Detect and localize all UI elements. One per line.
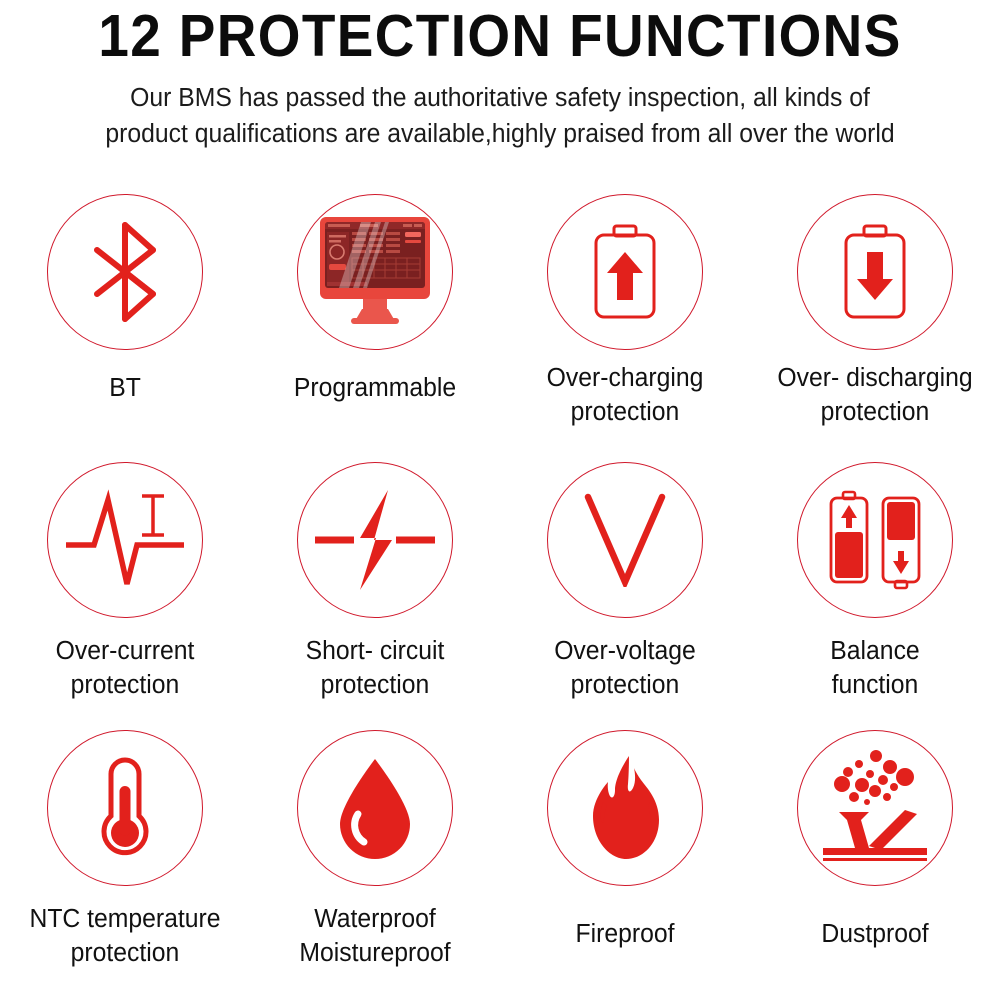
feature-label-line-1: Over-charging (504, 362, 747, 396)
feature-label-line-1: Balance (754, 635, 997, 669)
current-waveform-icon (64, 488, 186, 592)
feature-label-line-1: Over-current (4, 635, 247, 669)
icon-circle (297, 194, 453, 350)
battery-up-arrow-icon (586, 222, 664, 322)
page-title: 12 PROTECTION FUNCTIONS (35, 6, 965, 68)
lightning-bolt-icon (312, 488, 438, 592)
feature-item-short-circuit: Short- circuit protection (250, 454, 500, 722)
feature-item-bt: BT (0, 186, 250, 454)
feature-label: Dustproof (754, 918, 997, 952)
feature-label-line-2: protection (504, 669, 747, 703)
icon-circle (47, 730, 203, 886)
feature-label: Waterproof Moistureproof (254, 903, 497, 970)
feature-label: Programmable (254, 372, 497, 406)
feature-label: Over-charging protection (504, 362, 747, 429)
feature-label-line-1: BT (4, 372, 247, 406)
feature-label-line-2: protection (254, 669, 497, 703)
dust-particles-icon (817, 750, 933, 866)
feature-item-programmable: Programmable (250, 186, 500, 454)
feature-item-over-charging: Over-charging protection (500, 186, 750, 454)
feature-item-balance: Balance function (750, 454, 1000, 722)
feature-label-line-2: protection (504, 396, 747, 430)
feature-label-line-2: Moistureproof (254, 937, 497, 971)
voltage-v-icon (580, 493, 670, 587)
icon-circle (47, 194, 203, 350)
feature-label: Over-voltage protection (504, 635, 747, 702)
subtitle-line-2: product qualifications are available,hig… (15, 116, 985, 152)
protection-functions-infographic: 12 PROTECTION FUNCTIONS Our BMS has pass… (0, 0, 1000, 1000)
feature-item-over-discharging: Over- discharging protection (750, 186, 1000, 454)
feature-label-line-1: Waterproof (254, 903, 497, 937)
feature-item-ntc-temperature: NTC temperature protection (0, 722, 250, 1000)
icon-circle (547, 730, 703, 886)
feature-label-line-1: NTC temperature (4, 903, 247, 937)
monitor-icon (315, 214, 435, 330)
page-subtitle: Our BMS has passed the authoritative saf… (15, 80, 985, 152)
feature-label-line-1: Programmable (254, 372, 497, 406)
feature-label-line-2: protection (754, 396, 997, 430)
icon-circle (797, 730, 953, 886)
icon-circle (547, 462, 703, 618)
feature-grid: BT (0, 186, 1000, 1000)
icon-circle (547, 194, 703, 350)
icon-circle (297, 730, 453, 886)
feature-label: Fireproof (504, 918, 747, 952)
feature-label: BT (4, 372, 247, 406)
feature-label-line-2: function (754, 669, 997, 703)
thermometer-icon (88, 756, 162, 860)
battery-down-arrow-icon (836, 222, 914, 322)
icon-circle (797, 194, 953, 350)
feature-item-fireproof: Fireproof (500, 722, 750, 1000)
feature-label-line-1: Short- circuit (254, 635, 497, 669)
feature-item-dustproof: Dustproof (750, 722, 1000, 1000)
feature-label: Balance function (754, 635, 997, 702)
water-drop-icon (332, 756, 418, 860)
bluetooth-icon (75, 217, 175, 327)
two-batteries-icon (823, 488, 927, 592)
icon-circle (797, 462, 953, 618)
feature-label: Short- circuit protection (254, 635, 497, 702)
feature-label-line-1: Over- discharging (754, 362, 997, 396)
feature-label-line-1: Dustproof (754, 918, 997, 952)
header: 12 PROTECTION FUNCTIONS Our BMS has pass… (0, 0, 1000, 152)
flame-icon (579, 754, 671, 862)
feature-label-line-2: protection (4, 669, 247, 703)
feature-label: Over-current protection (4, 635, 247, 702)
subtitle-line-1: Our BMS has passed the authoritative saf… (15, 80, 985, 116)
icon-circle (297, 462, 453, 618)
feature-label-line-1: Fireproof (504, 918, 747, 952)
feature-item-waterproof: Waterproof Moistureproof (250, 722, 500, 1000)
feature-item-over-voltage: Over-voltage protection (500, 454, 750, 722)
icon-circle (47, 462, 203, 618)
feature-label-line-2: protection (4, 937, 247, 971)
feature-item-over-current: Over-current protection (0, 454, 250, 722)
feature-label: Over- discharging protection (754, 362, 997, 429)
feature-label: NTC temperature protection (4, 903, 247, 970)
feature-label-line-1: Over-voltage (504, 635, 747, 669)
